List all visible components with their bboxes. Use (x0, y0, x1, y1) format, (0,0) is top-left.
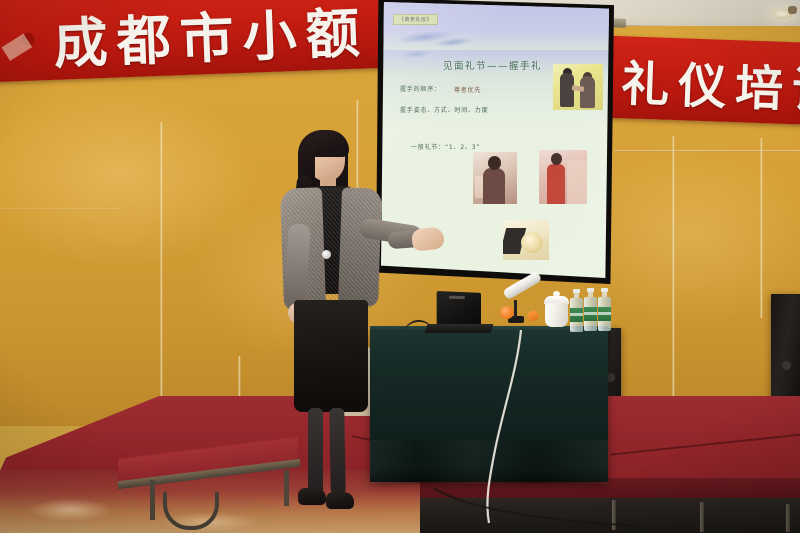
slide-bullet-1-label: 握手的顺序： (400, 84, 441, 93)
wall-seam-horizontal (614, 150, 800, 152)
stage-leg (700, 502, 704, 532)
presenter-leg-left (308, 408, 323, 494)
ramp-leg (150, 480, 155, 520)
presenter-shoe-left (298, 488, 326, 505)
slide-person-photo (473, 152, 517, 204)
wall-seam (760, 138, 763, 318)
ceiling-light-fixture (788, 6, 797, 14)
stage-seam (611, 426, 800, 455)
slide-bullet-2: 握手姿态、方式、时间、力度 (400, 105, 488, 114)
slide-hands-photo (503, 220, 549, 260)
water-bottle (584, 291, 597, 331)
teacup-knob (553, 291, 560, 297)
presenter-hand-right (411, 226, 445, 251)
conference-room-photo: 成都市小额 务礼仪培训 《商务礼仪》 见面礼节——握手礼 握手的顺序： 尊者优先… (0, 0, 800, 533)
presenter-skirt (294, 300, 368, 412)
slide-title: 见面礼节——握手礼 (443, 58, 542, 72)
speaker-cone-icon (782, 361, 791, 370)
banner-left-text: 成都市小额 (52, 0, 370, 79)
slide-bullet-1-value: 尊者优先 (454, 85, 481, 94)
microphone-head (500, 306, 514, 319)
wall-seam-horizontal (0, 208, 120, 210)
slide-handshake-photo (553, 64, 603, 110)
presenter (268, 124, 448, 516)
speaker-right (771, 294, 800, 402)
microphone-stand-pole (514, 300, 517, 318)
slide-course-tag: 《商务礼仪》 (393, 14, 438, 25)
stage-leg (786, 504, 790, 532)
presenter-brooch (322, 250, 331, 259)
presenter-jacket-right (338, 187, 382, 306)
wall-seam (160, 122, 163, 422)
water-bottle (598, 291, 611, 331)
presenter-shoe-right (326, 492, 354, 509)
laptop-logo (449, 296, 465, 299)
presenter-leg-right (329, 408, 345, 494)
wall-seam (672, 136, 675, 416)
teacup (545, 303, 568, 327)
water-bottle (570, 292, 583, 332)
slide-red-dress-photo (539, 150, 587, 204)
